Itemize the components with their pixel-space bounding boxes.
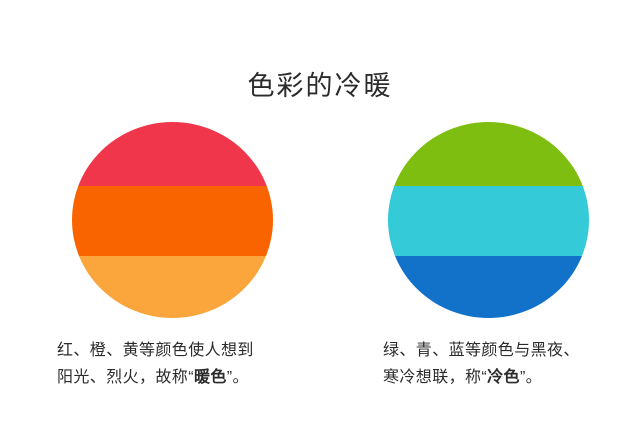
cool-color-wheel bbox=[388, 122, 589, 318]
cool-color-term: 冷色 bbox=[487, 369, 520, 386]
warm-caption: 红、橙、黄等颜色使人想到 阳光、烈火，故称“暖色”。 bbox=[57, 337, 307, 391]
green-band bbox=[388, 122, 589, 186]
orange-band bbox=[72, 186, 273, 256]
yellow-band bbox=[72, 256, 273, 318]
warm-caption-line-2-after: ”。 bbox=[227, 369, 249, 386]
red-band bbox=[72, 122, 273, 186]
cool-caption-line-2: 寒冷想联，称“冷色”。 bbox=[383, 364, 633, 391]
blue-band bbox=[388, 256, 589, 318]
cyan-band bbox=[388, 186, 589, 256]
warm-caption-line-2: 阳光、烈火，故称“暖色”。 bbox=[57, 364, 307, 391]
cool-caption: 绿、青、蓝等颜色与黑夜、 寒冷想联，称“冷色”。 bbox=[383, 337, 633, 391]
page-title: 色彩的冷暖 bbox=[0, 68, 640, 104]
cool-caption-line-1: 绿、青、蓝等颜色与黑夜、 bbox=[383, 337, 633, 364]
cool-caption-line-2-before: 寒冷想联，称“ bbox=[383, 369, 487, 386]
color-temperature-infographic: 色彩的冷暖 红、橙、黄等颜色使人想到 阳光、烈火，故称“暖色”。 绿、青、蓝等颜… bbox=[0, 0, 640, 424]
warm-color-wheel bbox=[72, 122, 273, 318]
warm-color-term: 暖色 bbox=[194, 369, 227, 386]
warm-caption-line-2-before: 阳光、烈火，故称“ bbox=[57, 369, 194, 386]
cool-caption-line-2-after: ”。 bbox=[520, 369, 542, 386]
warm-caption-line-1: 红、橙、黄等颜色使人想到 bbox=[57, 337, 307, 364]
